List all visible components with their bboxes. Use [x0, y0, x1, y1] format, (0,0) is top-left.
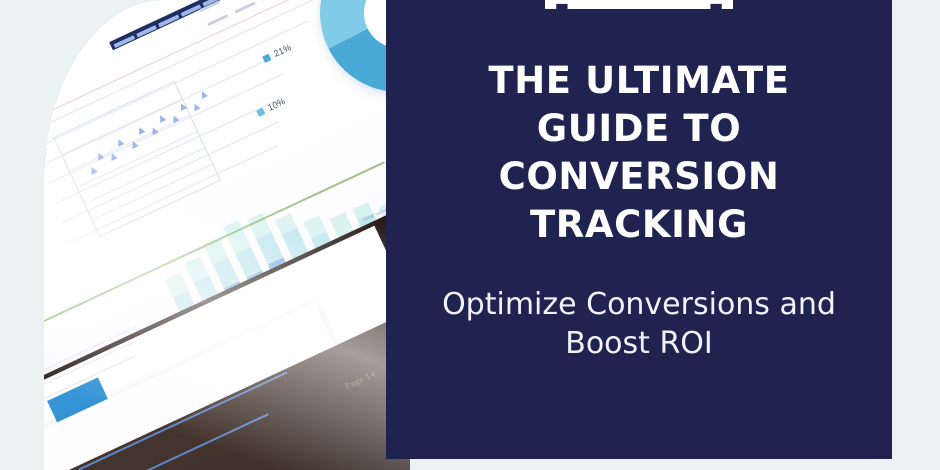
legend-swatch-icon: . — [262, 53, 271, 62]
title-card: THE ULTIMATE GUIDE TO CONVERSION TRACKIN… — [386, 0, 892, 459]
page-subtitle: Optimize Conversions and Boost ROI — [386, 285, 892, 363]
page-title: THE ULTIMATE GUIDE TO CONVERSION TRACKIN… — [386, 57, 892, 249]
analytics-report-photo: . 21% . 10% Total value Cost — [44, 0, 410, 470]
ribbon-banner — [545, 0, 733, 9]
poster-canvas: . 21% . 10% Total value Cost — [0, 0, 940, 470]
photo-frame: . 21% . 10% Total value Cost — [44, 0, 410, 470]
legend-swatch-icon: . — [256, 107, 265, 116]
